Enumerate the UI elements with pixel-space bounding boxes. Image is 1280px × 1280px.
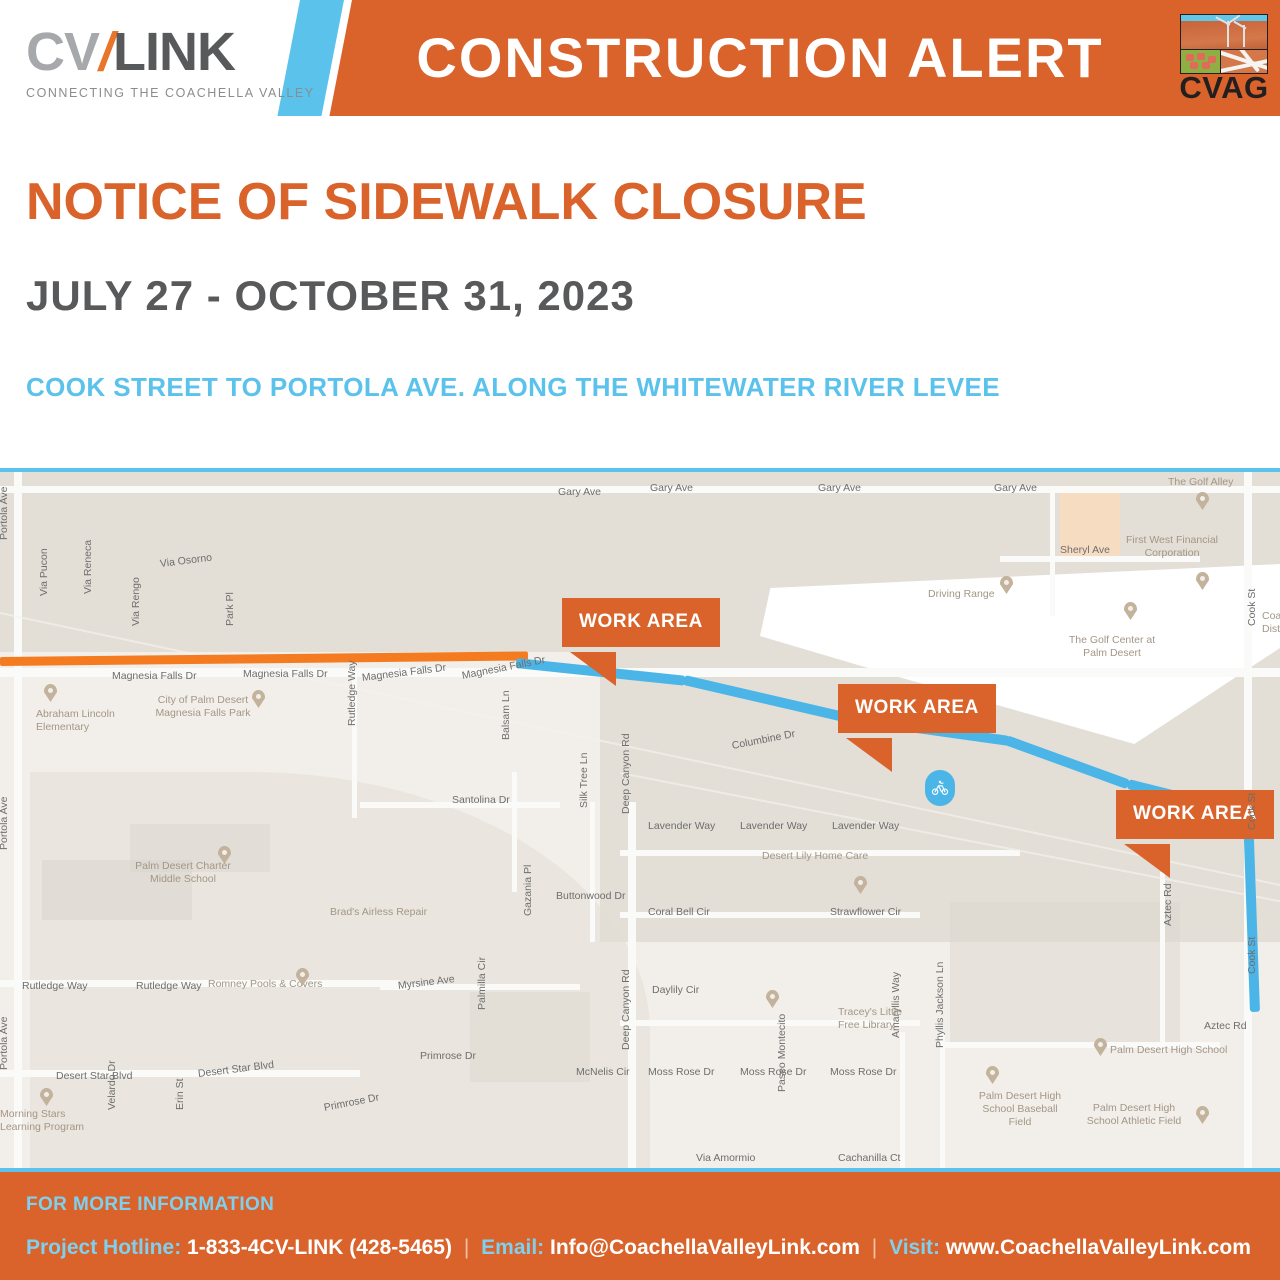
map-label-deep-canyon-rd: Deep Canyon Rd	[620, 969, 632, 1050]
map-label-portola-ave: Portola Ave	[0, 1016, 10, 1070]
map-poi-golf-center: The Golf Center at Palm Desert	[1062, 634, 1162, 660]
map-poi-pd-athletic-field: Palm Desert High School Athletic Field	[1084, 1102, 1184, 1128]
map-label-primrose-dr: Primrose Dr	[420, 1050, 476, 1062]
map-poi-magnesia-falls-park: City of Palm Desert Magnesia Falls Park	[148, 694, 258, 720]
map-poi-charter-middle-school: Palm Desert Charter Middle School	[128, 860, 238, 886]
map-label-rutledge-way: Rutledge Way	[136, 980, 202, 992]
map-label-lavender-way: Lavender Way	[740, 820, 807, 832]
closure-limits: COOK STREET TO PORTOLA AVE. ALONG THE WH…	[26, 372, 1000, 403]
map-road	[14, 472, 22, 1168]
logo-cv-text: CV	[26, 22, 99, 82]
map-label-silk-tree-ln: Silk Tree Ln	[578, 753, 590, 808]
map-poi-pd-baseball-field: Palm Desert High School Baseball Field	[972, 1090, 1068, 1129]
hotline-value: 1-833-4CV-LINK (428-5465)	[187, 1236, 452, 1259]
map-label-magnesia-falls-dr: Magnesia Falls Dr	[243, 668, 328, 680]
map-label-aztec-rd: Aztec Rd	[1162, 883, 1174, 926]
map-label-phyllis-jackson-ln: Phyllis Jackson Ln	[934, 962, 946, 1048]
callout-tail-icon	[846, 738, 892, 772]
email-value[interactable]: Info@CoachellaValleyLink.com	[550, 1236, 860, 1259]
page-header: CV/LINK CONNECTING THE COACHELLA VALLEY …	[0, 0, 1280, 116]
map-road	[590, 802, 595, 942]
map-road	[512, 772, 517, 892]
map-area	[0, 472, 640, 652]
hotline-label: Project Hotline:	[26, 1236, 181, 1259]
map-label-via-reneca: Via Reneca	[82, 540, 94, 594]
work-area-callout: WORK AREA	[562, 598, 720, 647]
visit-label: Visit:	[889, 1236, 940, 1259]
map-label-gary-ave: Gary Ave	[818, 482, 861, 494]
page-footer: FOR MORE INFORMATION Project Hotline: 1-…	[0, 1172, 1280, 1280]
map-label-portola-ave: Portola Ave	[0, 486, 10, 540]
cvag-wordmark: CVAG	[1178, 70, 1270, 106]
map-label-gazania-pl: Gazania Pl	[522, 865, 534, 916]
cvag-logo-image	[1180, 14, 1268, 74]
map-label-park-pl: Park Pl	[224, 592, 236, 626]
date-fruit-icon	[1190, 62, 1198, 69]
date-fruit-icon	[1186, 54, 1194, 61]
closure-dates: JULY 27 - OCTOBER 31, 2023	[26, 272, 635, 320]
logo-slash-icon: /	[99, 22, 113, 82]
project-map[interactable]: WORK AREA WORK AREA WORK AREA Portola Av…	[0, 472, 1280, 1168]
date-fruit-icon	[1202, 62, 1210, 69]
map-label-cachanilla-ct: Cachanilla Ct	[838, 1152, 900, 1164]
map-label-rutledge-way: Rutledge Way	[346, 660, 358, 726]
footer-separator: |	[458, 1236, 475, 1259]
bike-route-marker	[925, 770, 955, 806]
map-label-magnesia-falls-dr: Magnesia Falls Dr	[112, 670, 197, 682]
map-poi-traceys-library: Tracey's Little Free Library	[838, 1006, 918, 1032]
map-building	[950, 902, 1180, 1042]
map-label-balsam-ln: Balsam Ln	[500, 690, 512, 740]
map-label-gary-ave: Gary Ave	[994, 482, 1037, 494]
map-poi-morning-stars: Morning Stars Learning Program	[0, 1108, 92, 1134]
map-poi-golf-alley: The Golf Alley	[1168, 476, 1233, 488]
map-road	[0, 486, 600, 493]
map-label-erin-st: Erin St	[174, 1078, 186, 1110]
map-label-sheryl-ave: Sheryl Ave	[1060, 544, 1110, 556]
map-label-deep-canyon-rd: Deep Canyon Rd	[620, 733, 632, 814]
map-label-coral-bell-cir: Coral Bell Cir	[648, 906, 710, 918]
email-label: Email:	[481, 1236, 544, 1259]
map-label-moss-rose-dr: Moss Rose Dr	[648, 1066, 715, 1078]
footer-heading: FOR MORE INFORMATION	[26, 1194, 274, 1216]
map-poi-brads-airless-repair: Brad's Airless Repair	[330, 906, 427, 918]
footer-contact-line: Project Hotline: 1-833-4CV-LINK (428-546…	[26, 1236, 1251, 1260]
map-label-portola-ave: Portola Ave	[0, 796, 10, 850]
bicycle-icon	[931, 779, 949, 797]
map-label-gary-ave: Gary Ave	[650, 482, 693, 494]
map-label-mcnelis-cir: McNelis Cir	[576, 1066, 630, 1078]
map-road	[1050, 486, 1055, 616]
visit-value[interactable]: www.CoachellaValleyLink.com	[946, 1236, 1251, 1259]
map-label-daylily-cir: Daylily Cir	[652, 984, 699, 996]
map-label-palmilla-cir: Palmilla Cir	[476, 957, 488, 1010]
page-title: NOTICE OF SIDEWALK CLOSURE	[26, 172, 867, 232]
construction-alert-title: CONSTRUCTION ALERT	[360, 20, 1160, 96]
map-label-rutledge-way: Rutledge Way	[22, 980, 88, 992]
work-area-callout: WORK AREA	[838, 684, 996, 733]
map-label-via-rengo: Via Rengo	[130, 577, 142, 626]
cvlink-wordmark: CV/LINK	[26, 22, 278, 82]
logo-tagline: CONNECTING THE COACHELLA VALLEY	[26, 86, 278, 100]
date-fruit-icon	[1197, 53, 1205, 60]
map-label-paseo-montecito: Paseo Montecito	[776, 1014, 788, 1092]
map-label-cook-st: Cook St	[1246, 589, 1258, 626]
map-label-santolina-dr: Santolina Dr	[452, 794, 510, 806]
map-label-cook-st: Cook St	[1246, 937, 1258, 974]
work-area-label: WORK AREA	[562, 598, 720, 647]
map-poi-driving-range: Driving Range	[928, 588, 995, 600]
callout-tail-icon	[570, 652, 616, 686]
cvag-logo: CVAG	[1178, 14, 1270, 106]
map-poi-desert-lily-home-care: Desert Lily Home Care	[762, 850, 868, 862]
map-road	[0, 1070, 360, 1077]
map-road	[940, 1032, 945, 1168]
map-building	[470, 992, 590, 1082]
map-label-via-pucon: Via Pucon	[38, 548, 50, 596]
map-label-lavender-way: Lavender Way	[832, 820, 899, 832]
cvlink-logo: CV/LINK CONNECTING THE COACHELLA VALLEY	[26, 22, 278, 100]
map-poi-palm-desert-high-school: Palm Desert High School	[1110, 1044, 1227, 1056]
map-label-gary-ave: Gary Ave	[558, 486, 601, 498]
work-area-label: WORK AREA	[838, 684, 996, 733]
map-label-velardo-dr: Velardo Dr	[106, 1060, 118, 1110]
map-label-cook-st: Cook St	[1246, 793, 1258, 830]
map-label-desert-star-blvd: Desert Star Blvd	[56, 1070, 132, 1082]
map-label-buttonwood-dr: Buttonwood Dr	[556, 890, 625, 902]
map-poi-first-west-financial: First West Financial Corporation	[1124, 534, 1220, 560]
map-label-moss-rose-dr: Moss Rose Dr	[740, 1066, 807, 1078]
map-label-lavender-way: Lavender Way	[648, 820, 715, 832]
callout-tail-icon	[1124, 844, 1170, 878]
footer-separator: |	[866, 1236, 883, 1259]
map-label-aztec-rd: Aztec Rd	[1204, 1020, 1247, 1032]
map-poi-coachella-district: Coa... Distr...	[1262, 610, 1280, 636]
map-road	[900, 1032, 905, 1168]
map-poi-abraham-lincoln: Abraham Lincoln Elementary	[36, 708, 126, 734]
map-label-moss-rose-dr: Moss Rose Dr	[830, 1066, 897, 1078]
logo-link-text: LINK	[113, 22, 235, 82]
map-label-strawflower-cir: Strawflower Cir	[830, 906, 901, 918]
map-label-via-amormio: Via Amormio	[696, 1152, 755, 1164]
